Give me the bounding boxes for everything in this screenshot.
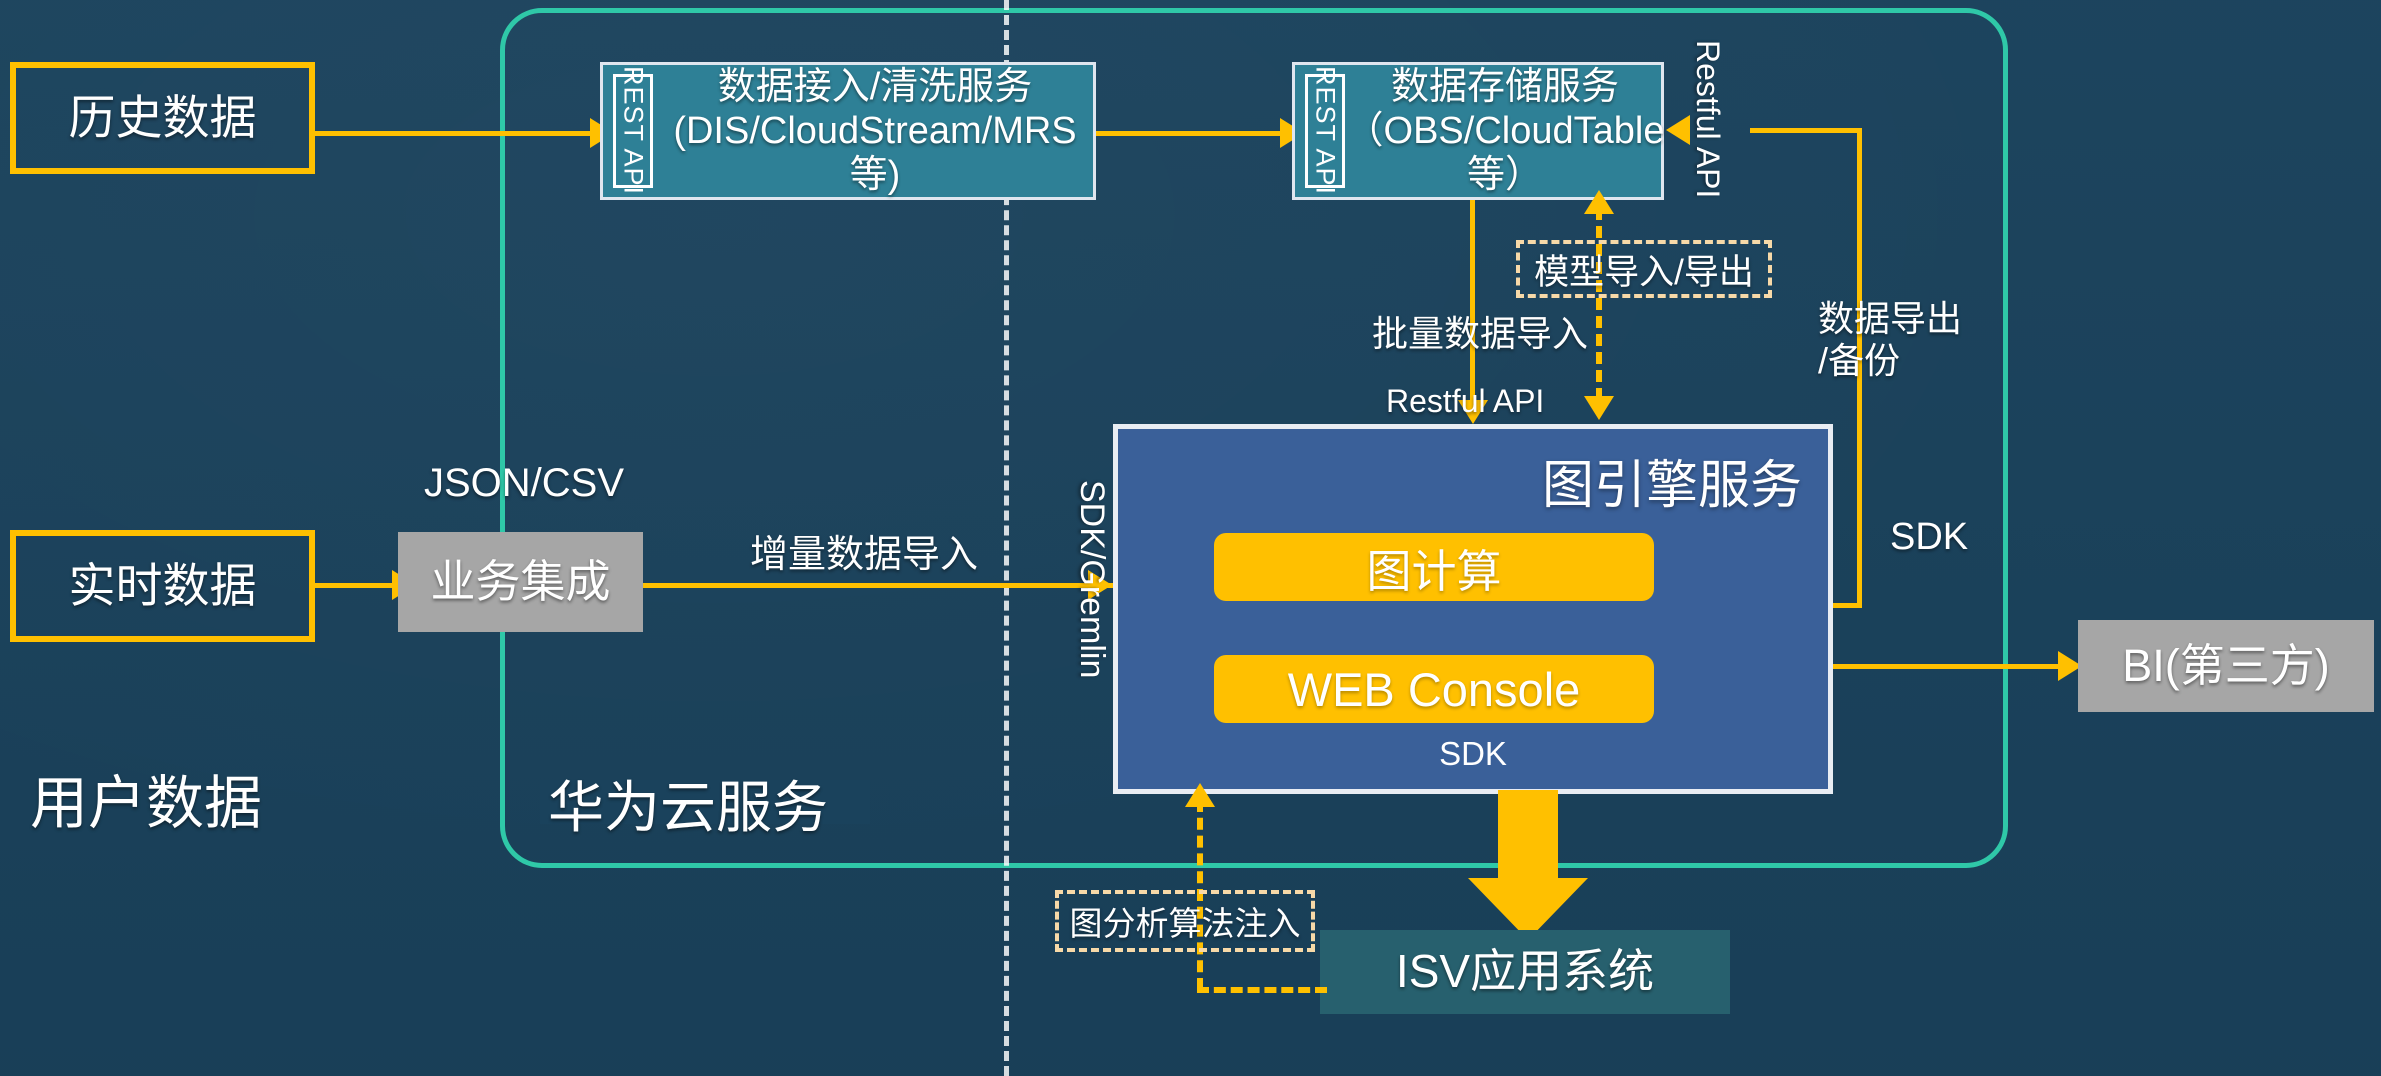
node-business-integration-label: 业务集成 — [430, 556, 610, 608]
zone-label-cloud-service: 华为云服务 — [548, 775, 828, 841]
edge-data-export-top — [1750, 128, 1862, 133]
architecture-diagram: 用户数据 华为云服务 历史数据 实时数据 业务集成 JSON/CSV 增量数据导… — [0, 0, 2381, 1076]
edge-bulk-import-line — [1470, 200, 1475, 408]
node-web-console[interactable]: WEB Console — [1214, 655, 1654, 723]
edge-algorithm-injection-horizontal — [1197, 987, 1327, 993]
annotation-model-import-export-label: 模型导入/导出 — [1534, 244, 1754, 295]
edge-algorithm-injection-arrow — [1185, 783, 1215, 807]
node-graph-engine-title: 图引擎服务 — [1542, 443, 1802, 518]
node-data-storage-line1: 数据存储服务 — [1346, 65, 1665, 109]
node-realtime-data[interactable]: 实时数据 — [10, 530, 315, 642]
edge-label-sdk-gremlin: SDK/Gremlin — [1072, 480, 1112, 678]
node-data-ingest-line2: (DIS/CloudStream/MRS等) — [657, 109, 1093, 197]
edge-model-import-export-arrow-down — [1584, 396, 1614, 420]
annotation-graph-algorithm-injection-label: 图分析算法注入 — [1070, 897, 1301, 945]
annotation-graph-algorithm-injection: 图分析算法注入 — [1055, 890, 1315, 952]
edge-ingest-to-storage — [1096, 131, 1286, 136]
node-graph-compute-label: 图计算 — [1366, 535, 1501, 600]
edge-incremental-import — [643, 583, 1113, 588]
node-data-storage-rest-api-label: REST API — [1309, 66, 1340, 195]
edge-historical-to-ingest — [315, 131, 593, 136]
node-data-storage-line2: （OBS/CloudTable等） — [1346, 109, 1665, 197]
node-business-integration[interactable]: 业务集成 — [398, 532, 643, 632]
edge-label-bulk-import-api: Restful API — [1386, 383, 1544, 421]
edge-graph-engine-to-bi — [1833, 664, 2063, 669]
node-web-console-label: WEB Console — [1288, 662, 1581, 717]
node-graph-compute[interactable]: 图计算 — [1214, 533, 1654, 601]
node-data-ingest-rest-api-tab: REST API — [613, 74, 653, 188]
edge-data-export-arrow — [1666, 115, 1690, 145]
edge-label-bulk-import: 批量数据导入 — [1372, 313, 1588, 355]
edge-label-storage-restful-api: Restful API — [1688, 40, 1726, 198]
edge-model-import-export-line — [1596, 208, 1602, 400]
node-data-storage-rest-api-tab: REST API — [1305, 74, 1345, 188]
node-data-ingest-rest-api-label: REST API — [617, 66, 648, 195]
node-historical-data[interactable]: 历史数据 — [10, 62, 315, 174]
node-realtime-data-label: 实时数据 — [69, 559, 257, 614]
edge-label-data-export-1: 数据导出 — [1818, 298, 1962, 340]
edge-label-data-export-2: /备份 — [1818, 340, 1900, 382]
edge-model-import-export-arrow-up — [1584, 190, 1614, 214]
zone-label-user-data: 用户数据 — [30, 770, 262, 838]
node-bi-third-party-label: BI(第三方) — [2122, 640, 2330, 692]
edge-label-json-csv: JSON/CSV — [424, 460, 624, 507]
node-graph-engine-service[interactable]: 图引擎服务 图计算 WEB Console SDK — [1113, 424, 1833, 794]
node-isv-application[interactable]: ISV应用系统 — [1320, 930, 1730, 1014]
edge-graph-engine-to-isv-arrow — [1468, 790, 1588, 940]
node-data-storage-service[interactable]: REST API 数据存储服务 （OBS/CloudTable等） — [1292, 62, 1664, 200]
node-data-ingest-service[interactable]: REST API 数据接入/清洗服务 (DIS/CloudStream/MRS等… — [600, 62, 1096, 200]
edge-label-sdk-right: SDK — [1890, 515, 1968, 560]
node-isv-application-label: ISV应用系统 — [1396, 945, 1654, 998]
big-arrow-shaft — [1498, 790, 1558, 882]
node-bi-third-party[interactable]: BI(第三方) — [2078, 620, 2374, 712]
node-graph-engine-sdk-label: SDK — [1118, 735, 1828, 773]
node-historical-data-label: 历史数据 — [69, 91, 257, 146]
annotation-model-import-export: 模型导入/导出 — [1516, 240, 1772, 298]
edge-realtime-to-integration — [315, 583, 397, 588]
edge-label-incremental-import: 增量数据导入 — [750, 533, 978, 578]
node-data-ingest-line1: 数据接入/清洗服务 — [657, 65, 1093, 109]
